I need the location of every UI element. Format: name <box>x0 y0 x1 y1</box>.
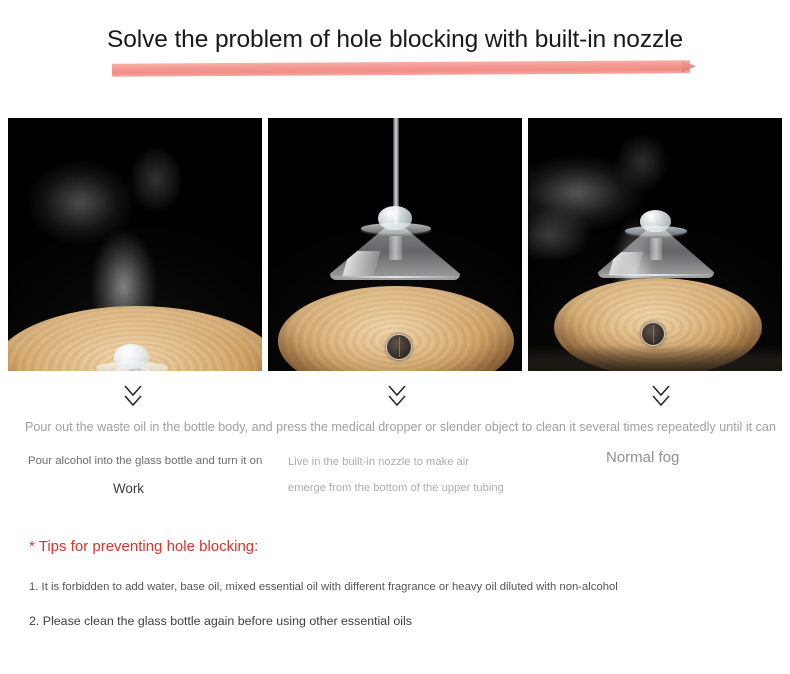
tip-item: 2. Please clean the glass bottle again b… <box>29 614 412 628</box>
chevron-double-down-icon <box>644 378 678 412</box>
caption-step1-line2: Work <box>113 481 144 496</box>
inner-tube <box>650 238 662 260</box>
caption-step2-line1: Live in the built-in nozzle to make air <box>288 456 469 468</box>
glass-knob <box>114 344 149 369</box>
power-button[interactable] <box>386 334 412 360</box>
page-title: Solve the problem of hole blocking with … <box>0 26 790 54</box>
caption-step2-line2: emerge from the bottom of the upper tubi… <box>288 482 504 494</box>
inner-tube <box>389 236 402 260</box>
tips-heading: * Tips for preventing hole blocking: <box>29 538 258 555</box>
chevron-double-down-icon <box>116 378 150 412</box>
glass-knob <box>378 206 412 230</box>
floor-shadow <box>528 345 782 371</box>
product-photo-row <box>8 118 782 371</box>
glass-knob <box>640 210 671 232</box>
photo-diffuser-normal-fog <box>528 118 782 371</box>
glass-base-line <box>330 276 460 278</box>
caption-step1-line1: Pour alcohol into the glass bottle and t… <box>28 455 262 467</box>
title-block: Solve the problem of hole blocking with … <box>0 26 790 88</box>
chevron-double-down-icon <box>380 378 414 412</box>
step-arrow-row <box>8 378 782 412</box>
photo-diffuser-dropper-cleaning <box>268 118 522 371</box>
caption-step3: Normal fog <box>606 449 679 466</box>
tip-item: 1. It is forbidden to add water, base oi… <box>29 581 618 593</box>
photo-diffuser-mist-closeup <box>8 118 262 371</box>
caption-long-note: Pour out the waste oil in the bottle bod… <box>25 420 776 434</box>
title-highlight-bar <box>112 60 690 77</box>
glass-base-line <box>598 274 714 276</box>
power-button[interactable] <box>641 322 665 346</box>
